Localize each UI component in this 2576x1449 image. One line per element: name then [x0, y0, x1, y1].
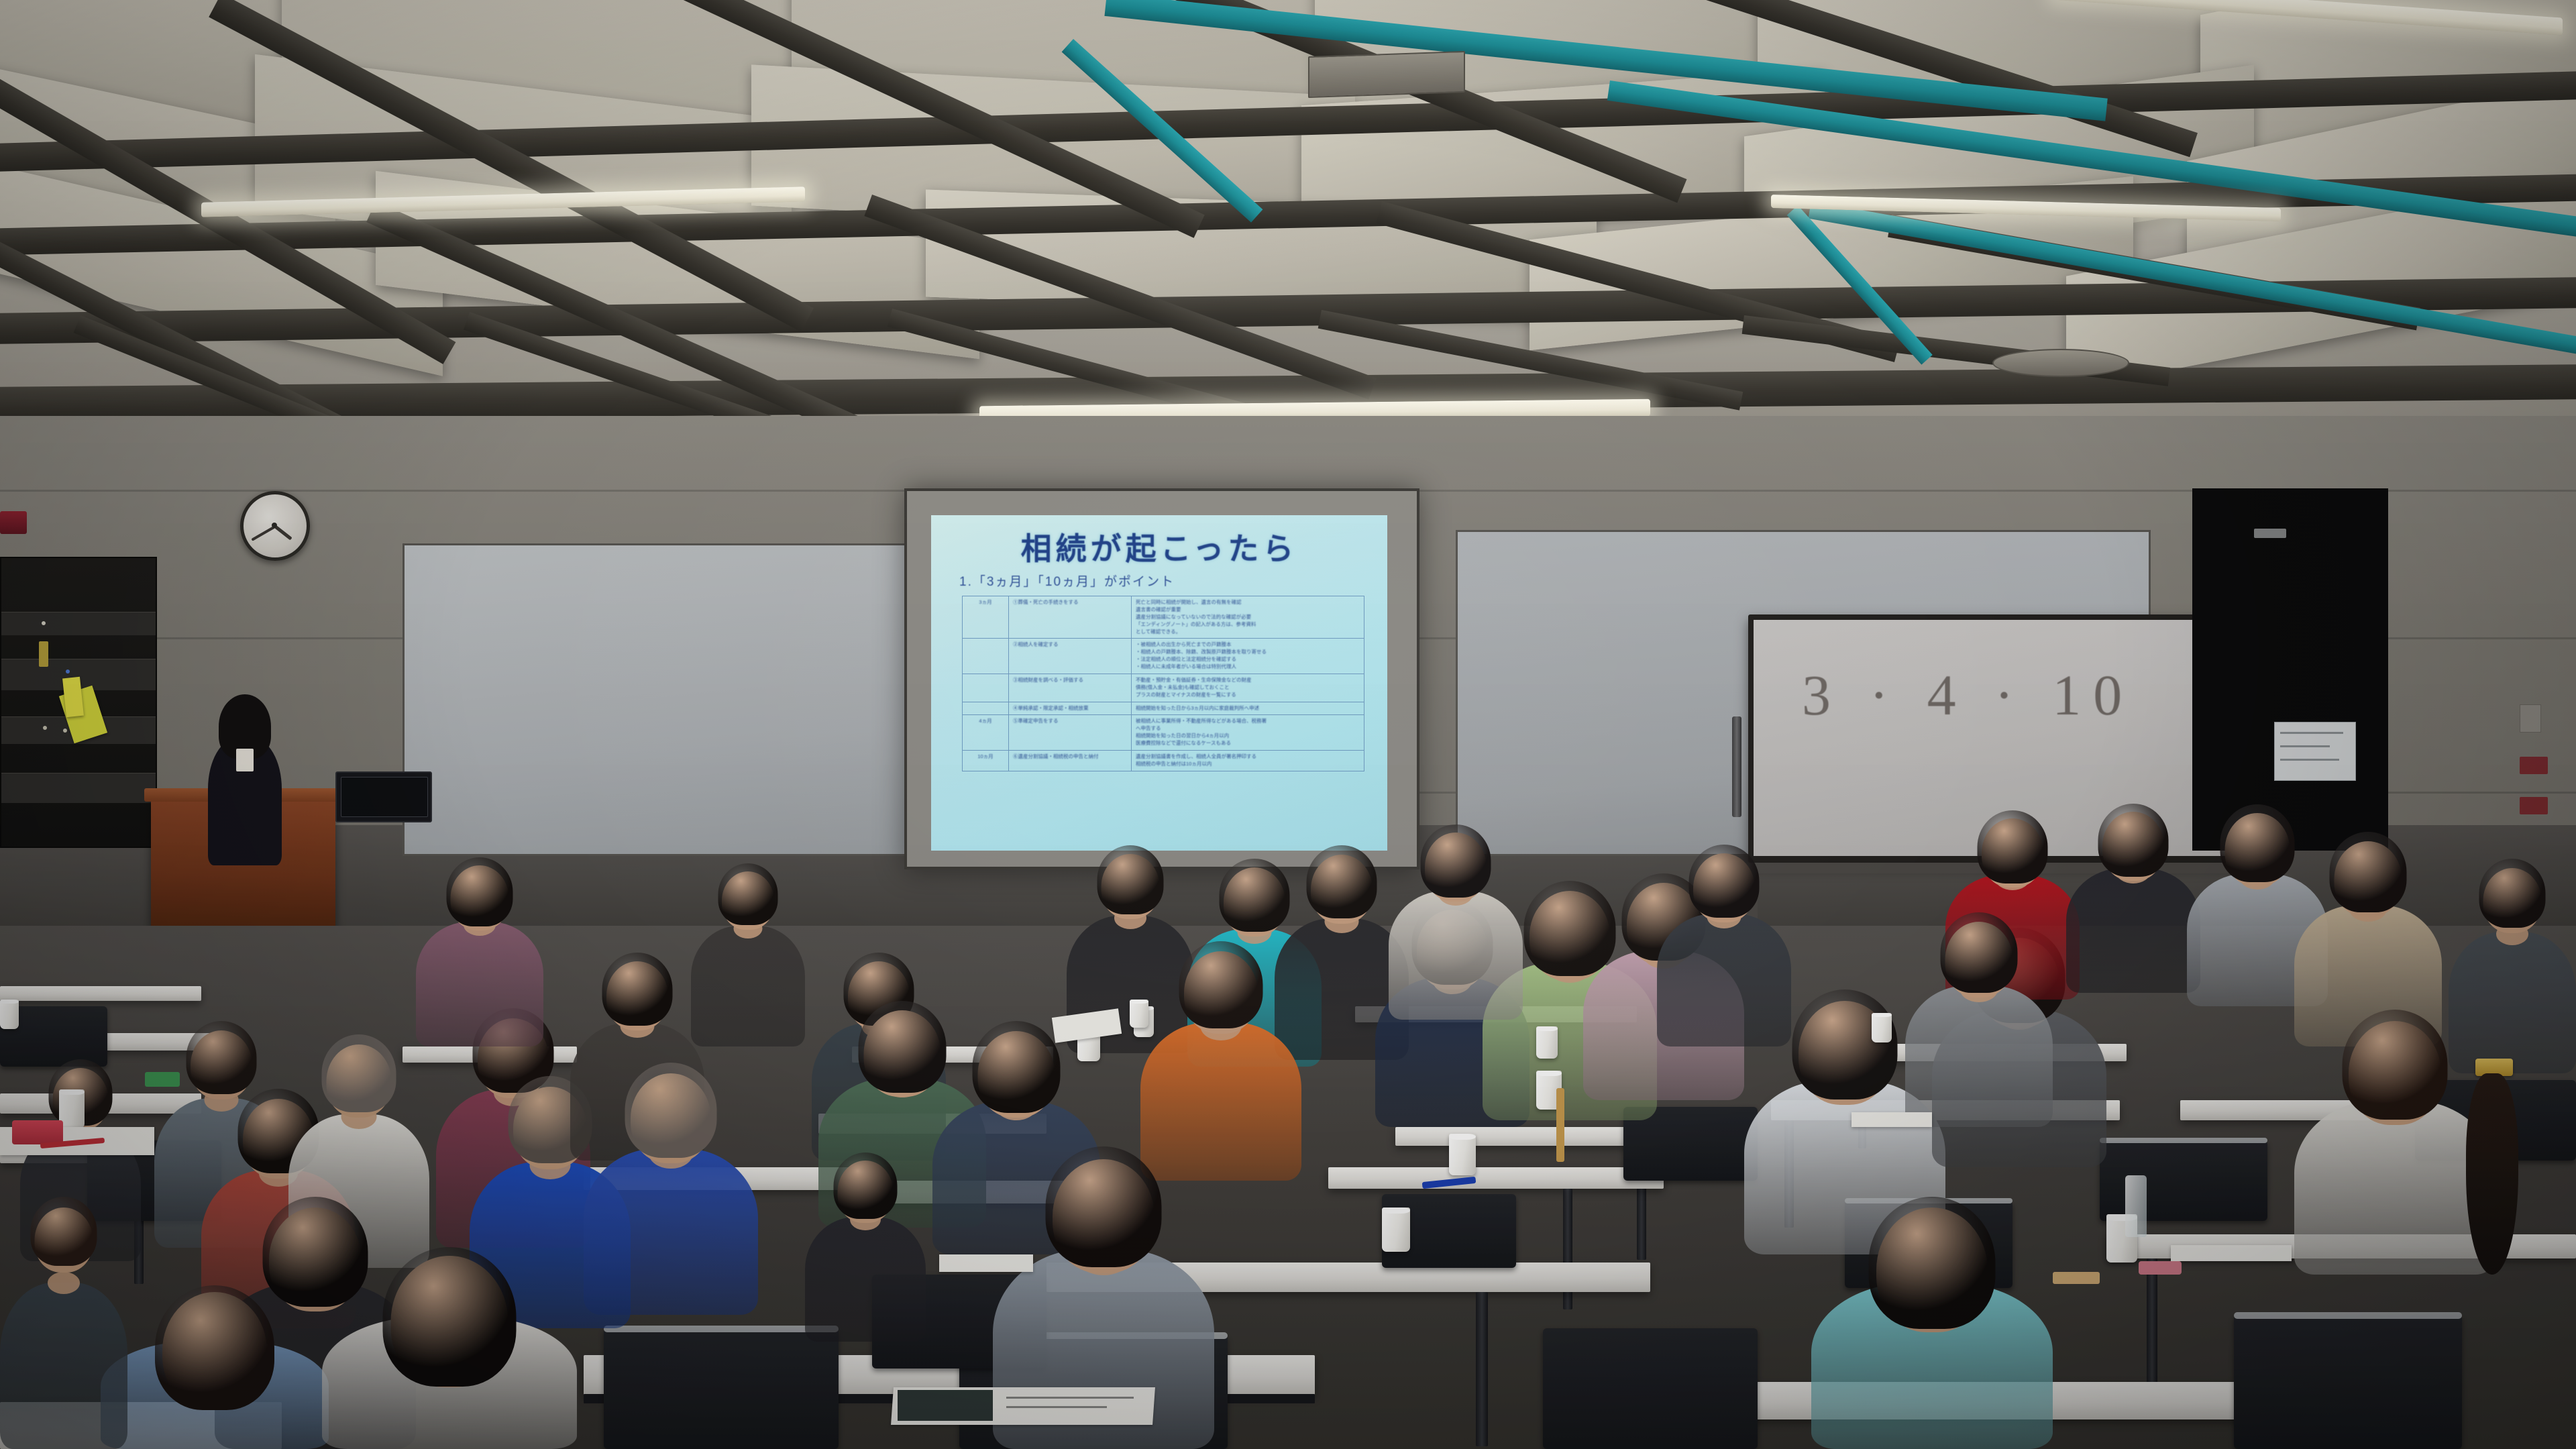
audience-person [416, 845, 543, 1046]
person-hair [155, 1285, 274, 1410]
paper-cup [1130, 1000, 1148, 1028]
audience-person [584, 1046, 758, 1315]
green-object [145, 1072, 180, 1087]
person-torso [0, 1283, 127, 1449]
handout-paper [2171, 1245, 2292, 1261]
person-torso [584, 1148, 758, 1315]
paper-cup [1382, 1207, 1410, 1252]
person-hair [2098, 804, 2169, 877]
person-hair [1307, 845, 1377, 918]
audience-person [691, 852, 805, 1046]
handout-paper [939, 1254, 1033, 1272]
person-hair [1792, 989, 1898, 1099]
person-hair [447, 857, 513, 926]
person-hair [718, 863, 778, 925]
person-torso [2294, 1100, 2495, 1275]
wooden-stick [1556, 1088, 1564, 1162]
person-hair [1978, 810, 2048, 883]
handout-text-line [1006, 1406, 1107, 1408]
person-hair [1869, 1197, 1996, 1329]
person-torso [1389, 891, 1523, 1020]
person-torso [2066, 868, 2200, 993]
person-hair [1097, 845, 1164, 914]
pencil-case [12, 1120, 63, 1144]
audience-person [1657, 832, 1791, 1046]
small-pink-object [2139, 1261, 2182, 1275]
audience-person [2066, 792, 2200, 993]
person-hair [31, 1197, 97, 1266]
paper-cup [1449, 1134, 1476, 1175]
lecture-room-photo: 相続が起こったら 1.「3ヵ月」「10ヵ月」がポイント 3ヵ月①葬儀・死亡の手続… [0, 0, 2576, 1449]
person-hair [2330, 832, 2407, 912]
handout-photo-block [898, 1390, 993, 1421]
person-hair [1046, 1146, 1162, 1267]
person-hair [2220, 804, 2295, 882]
audience-person [322, 1234, 577, 1449]
paper-cup [1536, 1026, 1558, 1059]
person-torso [2449, 932, 2576, 1073]
person-neck [48, 1272, 80, 1294]
small-object [2053, 1272, 2100, 1284]
person-hair [602, 953, 673, 1026]
handout-paper [1851, 1112, 1932, 1127]
audience-person [1905, 899, 2053, 1127]
audience-person [0, 1181, 127, 1449]
person-hair [834, 1152, 898, 1219]
paper-cup [0, 1000, 19, 1029]
water-bottle [2125, 1175, 2147, 1237]
person-torso [691, 926, 805, 1046]
ponytail [2466, 1073, 2518, 1275]
person-torso [416, 922, 543, 1046]
person-hair [322, 1034, 396, 1112]
audience [0, 0, 2576, 1449]
person-torso [1905, 985, 2053, 1127]
audience-person [101, 1275, 329, 1449]
person-hair [625, 1063, 717, 1158]
person-hair [2479, 859, 2546, 928]
handout-text-line [1006, 1397, 1134, 1399]
person-hair [383, 1247, 517, 1387]
audience-person [2449, 845, 2576, 1073]
person-torso [1657, 914, 1791, 1046]
person-hair [1689, 845, 1760, 918]
person-hair [1421, 824, 1491, 898]
audience-person [805, 1140, 926, 1342]
person-hair [1179, 941, 1263, 1028]
person-torso [805, 1217, 926, 1342]
audience-person [1389, 812, 1523, 1020]
person-hair [973, 1021, 1061, 1113]
paper-cup [1872, 1013, 1892, 1042]
audience-person [1811, 1181, 2053, 1449]
person-hair [2343, 1010, 2448, 1120]
person-hair [1941, 912, 2018, 993]
